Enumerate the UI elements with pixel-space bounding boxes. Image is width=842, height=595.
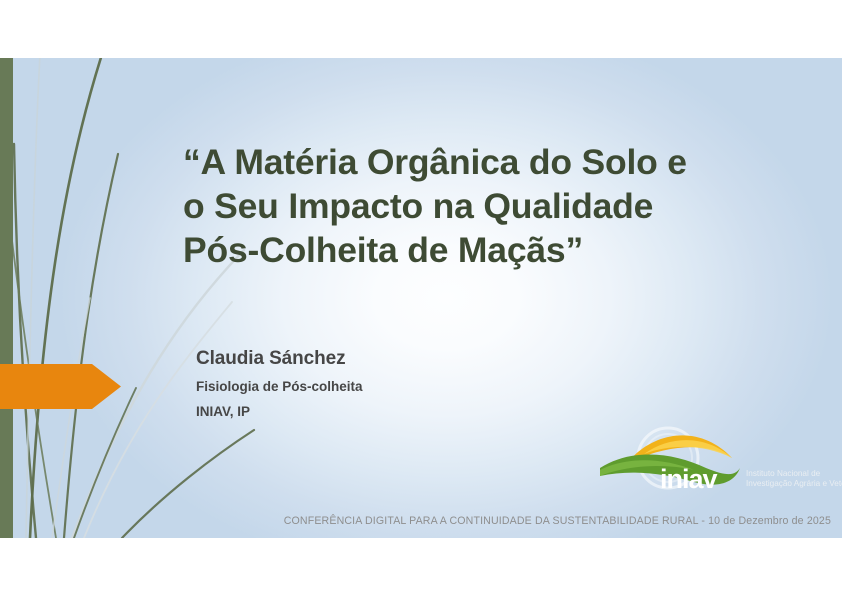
grass-decoration [0,58,260,538]
author-role: Fisiologia de Pós-colheita [196,375,616,399]
author-organization: INIAV, IP [196,400,616,424]
page-title: “A Matéria Orgânica do Solo e o Seu Impa… [183,140,803,272]
author-name: Claudia Sánchez [196,346,616,372]
iniav-logo-graphic: iniav Instituto Nacional de Investigação… [598,424,842,496]
logo-tagline-line2: Investigação Agrária e Veterinária, I.P. [746,479,842,488]
title-slide: “A Matéria Orgânica do Solo e o Seu Impa… [0,58,842,538]
footer-text: CONFERÊNCIA DIGITAL PARA A CONTINUIDADE … [284,515,831,527]
left-accent-bar [0,58,13,538]
author-block: Claudia Sánchez Fisiologia de Pós-colhei… [196,346,616,424]
logo-wordmark: iniav [660,464,718,494]
logo-tagline-line1: Instituto Nacional de [746,469,821,478]
orange-arrow-shape [0,364,121,409]
footer-bar: CONFERÊNCIA DIGITAL PARA A CONTINUIDADE … [0,510,842,538]
iniav-logo: iniav Instituto Nacional de Investigação… [598,424,842,496]
